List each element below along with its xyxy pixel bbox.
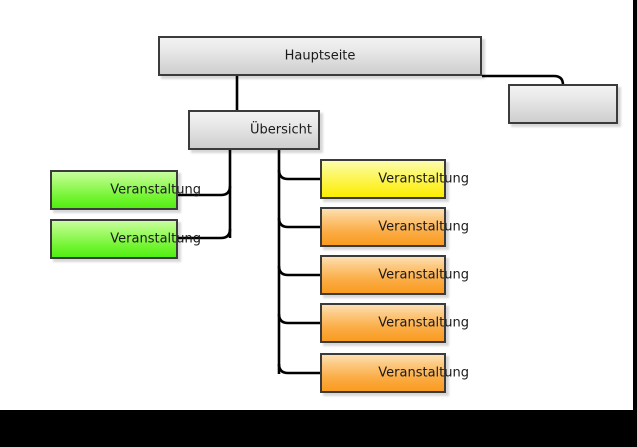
bottom-black-band <box>0 410 637 447</box>
node-event-right-4-label: Veranstaltung <box>378 317 469 330</box>
node-event-right-3-label: Veranstaltung <box>378 269 469 282</box>
connector-right-3 <box>279 266 320 275</box>
node-event-green-1[interactable]: Veranstaltung <box>50 170 178 210</box>
node-event-green-1-label: Veranstaltung <box>110 184 201 197</box>
node-hauptseite-label: Hauptseite <box>160 50 480 63</box>
right-edge-strip <box>633 0 637 410</box>
node-event-right-1-label: Veranstaltung <box>378 173 469 186</box>
node-uebersicht-label: Übersicht <box>190 124 312 137</box>
connector-right-5 <box>279 364 320 373</box>
connector-right-4 <box>279 314 320 323</box>
node-uebersicht[interactable]: Übersicht <box>188 110 320 150</box>
node-event-right-2[interactable]: Veranstaltung <box>320 207 446 247</box>
node-event-right-5[interactable]: Veranstaltung <box>320 353 446 393</box>
node-event-right-5-label: Veranstaltung <box>378 367 469 380</box>
connector-right-2 <box>279 218 320 227</box>
node-event-green-2-label: Veranstaltung <box>110 233 201 246</box>
node-event-right-1[interactable]: Veranstaltung <box>320 159 446 199</box>
node-event-right-3[interactable]: Veranstaltung <box>320 255 446 295</box>
node-sidebox[interactable] <box>508 84 618 124</box>
diagram-canvas: Hauptseite Übersicht Veranstaltung Veran… <box>0 0 637 447</box>
node-event-green-2[interactable]: Veranstaltung <box>50 219 178 259</box>
node-event-right-4[interactable]: Veranstaltung <box>320 303 446 343</box>
node-hauptseite[interactable]: Hauptseite <box>158 36 482 76</box>
connector-right-1 <box>279 170 320 179</box>
node-event-right-2-label: Veranstaltung <box>378 221 469 234</box>
